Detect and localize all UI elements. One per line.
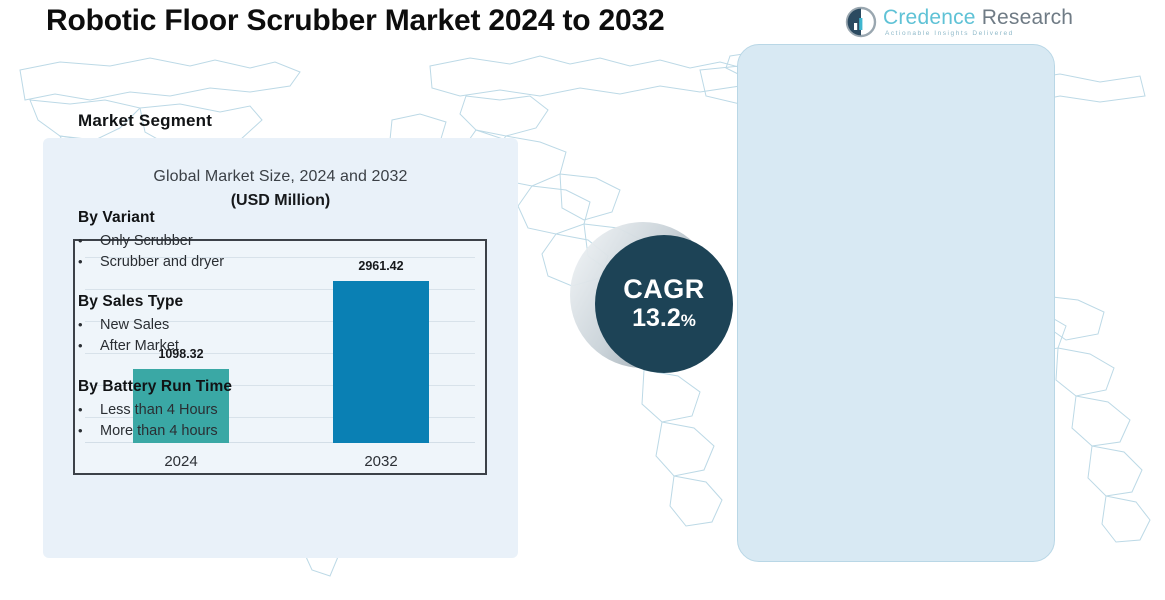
segment-group-title: By Sales Type	[78, 293, 183, 311]
list-item: •Only Scrubber	[78, 231, 224, 252]
brand-name-primary: Credence	[883, 6, 976, 29]
bullet-icon: •	[78, 252, 100, 272]
list-item-label: After Market	[100, 337, 179, 357]
segment-group-by-battery-run-time: By Battery Run Time •Less than 4 Hours •…	[78, 378, 232, 441]
cagr-value: 13.2%	[632, 305, 696, 333]
cagr-badge: CAGR 13.2%	[595, 235, 733, 373]
list-item: •Less than 4 Hours	[78, 400, 232, 421]
chart-subtitle: (USD Million)	[43, 192, 518, 210]
segment-group-by-sales-type: By Sales Type •New Sales •After Market	[78, 293, 183, 356]
list-item: •After Market	[78, 336, 183, 357]
list-item-label: New Sales	[100, 316, 169, 336]
bullet-icon: •	[78, 231, 100, 251]
infographic-page: Robotic Floor Scrubber Market 2024 to 20…	[0, 0, 1165, 600]
list-item: •New Sales	[78, 315, 183, 336]
bar-chart-circle-icon	[845, 6, 877, 38]
segment-group-by-variant: By Variant •Only Scrubber •Scrubber and …	[78, 209, 224, 272]
brand-name-secondary: Research	[976, 6, 1074, 29]
brand-tagline: Actionable Insights Delivered	[885, 31, 1073, 38]
brand-name: Credence Research	[883, 7, 1073, 28]
bar-2032	[333, 281, 429, 443]
segment-item-list: •Only Scrubber •Scrubber and dryer	[78, 231, 224, 272]
list-item-label: Only Scrubber	[100, 232, 193, 252]
segment-group-title: By Variant	[78, 209, 224, 227]
bar-category-label-2024: 2024	[123, 453, 239, 470]
segment-item-list: •New Sales •After Market	[78, 315, 183, 356]
chart-title: Global Market Size, 2024 and 2032	[43, 168, 518, 186]
segment-panel-heading: Market Segment	[78, 111, 212, 131]
bar-category-label-2032: 2032	[323, 453, 439, 470]
cagr-label: CAGR	[623, 275, 705, 303]
list-item-label: Less than 4 Hours	[100, 401, 218, 421]
bar-value-label-2032: 2961.42	[323, 259, 439, 273]
brand-logo: Credence Research Actionable Insights De…	[845, 2, 1040, 42]
segment-item-list: •Less than 4 Hours •More than 4 hours	[78, 400, 232, 441]
bullet-icon: •	[78, 400, 100, 420]
market-segment-panel	[737, 44, 1055, 562]
segment-group-title: By Battery Run Time	[78, 378, 232, 396]
cagr-unit: %	[681, 311, 696, 330]
list-item-label: Scrubber and dryer	[100, 253, 224, 273]
list-item: •More than 4 hours	[78, 421, 232, 442]
list-item: •Scrubber and dryer	[78, 252, 224, 273]
list-item-label: More than 4 hours	[100, 422, 218, 442]
page-title: Robotic Floor Scrubber Market 2024 to 20…	[46, 4, 664, 38]
bullet-icon: •	[78, 336, 100, 356]
bullet-icon: •	[78, 315, 100, 335]
cagr-number: 13.2	[632, 304, 681, 332]
bullet-icon: •	[78, 421, 100, 441]
